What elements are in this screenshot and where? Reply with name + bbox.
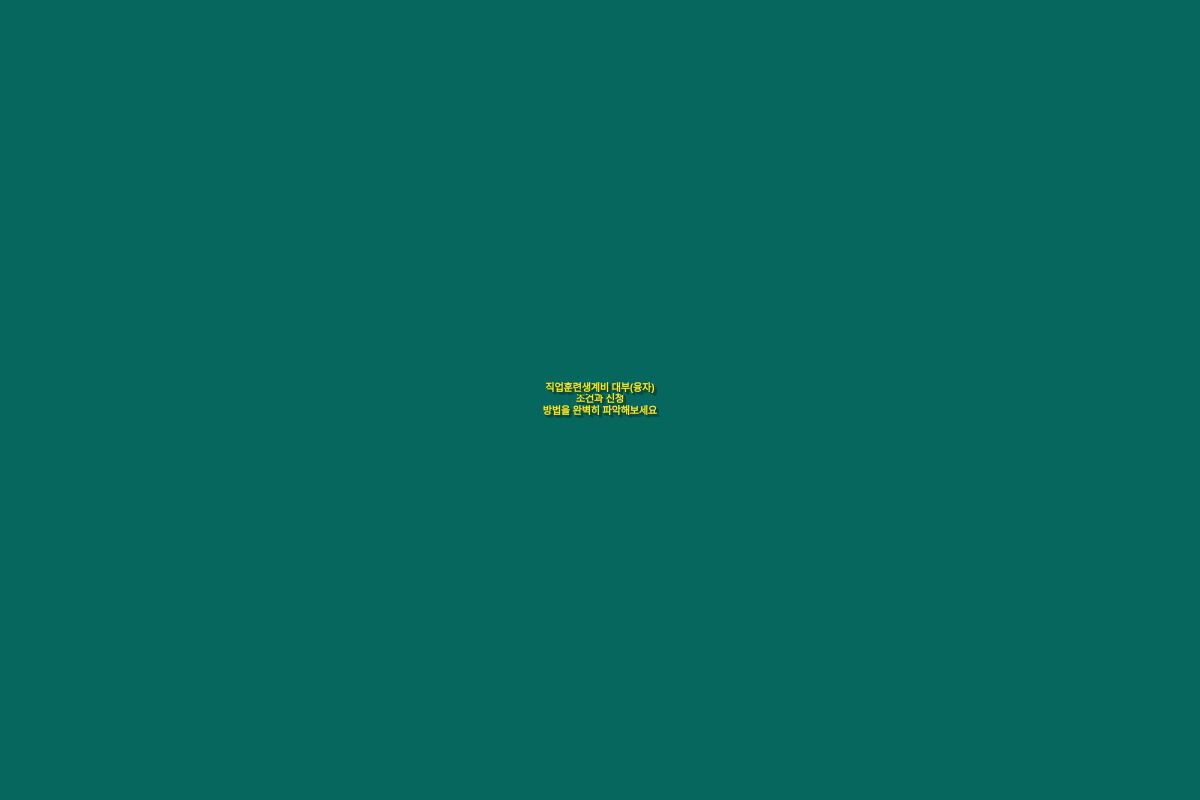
headline-line-2: 조건과 신청 <box>14 394 1186 405</box>
thumbnail-canvas: 직업훈련생계비 대부(융자) 조건과 신청 방법을 완벽히 파악해보세요 <box>0 0 1200 800</box>
headline-line-3: 방법을 완벽히 파악해보세요 <box>14 406 1186 417</box>
headline-block: 직업훈련생계비 대부(융자) 조건과 신청 방법을 완벽히 파악해보세요 <box>0 383 1200 417</box>
headline-line-1: 직업훈련생계비 대부(융자) <box>14 383 1186 394</box>
